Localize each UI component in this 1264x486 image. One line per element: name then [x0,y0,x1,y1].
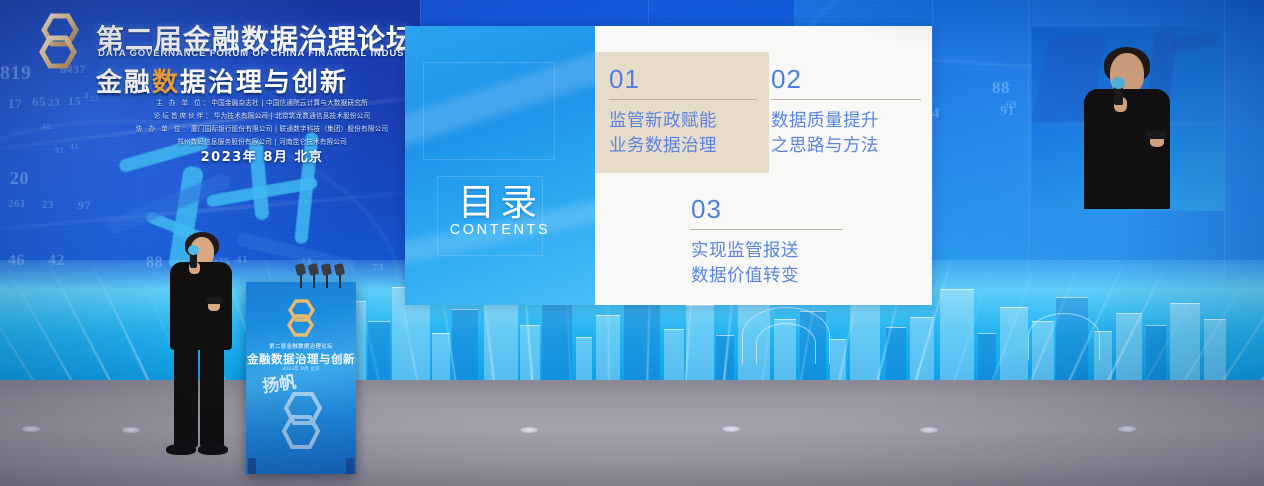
toc-label-01-line2: 业务数据治理 [609,134,757,159]
event-podium: 第二届金融数据治理论坛 金融数据治理与创新 2023年 8月 北京 扬帆 [246,282,356,474]
slide-title-panel: 目录 CONTENTS [405,26,595,305]
podium-leg [248,458,256,474]
floor-inset-light [1118,426,1136,432]
floor-inset-light [520,427,538,433]
toc-item-03[interactable]: 03 实现监管报送 数据价值转变 [679,182,853,303]
toc-number-01: 01 [609,66,757,92]
toc-item-02[interactable]: 02 数据质量提升 之思路与方法 [759,52,931,173]
skyline-building [1116,313,1142,380]
live-camera-feed [1032,27,1224,211]
podium-watermark-logo [270,390,334,452]
presenter-shoe-left [166,444,196,455]
skyline-building [664,329,684,380]
theme-highlight-char: 数 [152,68,180,98]
forum-hexagon-logo [28,12,90,70]
podium-title-big: 金融数据治理与创新 [246,351,356,367]
podium-title-small: 第二届金融数据治理论坛 [246,342,356,350]
podium-hexagon-logo [280,298,322,338]
conference-stage-photo: 8196437176523154234697412026123974642935… [0,0,1264,486]
background-number: 97 [78,198,91,213]
toc-label-02-line1: 数据质量提升 [771,109,921,134]
presenter-leg-left [174,344,198,448]
slide-contents-title-cn: 目录 [405,172,595,226]
toc-rule [609,99,757,100]
banner-organizer-line: 协 办 单 位：厦门国际银行股份有限公司 | 联通数字科技（集团）股份有限公司 [112,123,412,136]
presenter-clicker [206,297,222,304]
toc-rule [691,229,843,230]
skyline-building [452,309,478,380]
toc-label-01-line1: 监管新政赋能 [609,109,757,134]
arch-line [1028,313,1100,360]
presenter-shoe-right [198,444,228,455]
event-banner: 第二届金融数据治理论坛 DATA GOVERNANCE FORUM OF CHI… [14,4,414,174]
toc-label-03-line1: 实现监管报送 [691,239,843,264]
floor-inset-light [122,427,140,433]
slide-contents-title-en: CONTENTS [405,222,595,238]
banner-theme: 金融数据治理与创新 [96,62,348,99]
floor-inset-light [22,426,40,432]
toc-item-01[interactable]: 01 监管新政赋能 业务数据治理 [595,52,769,173]
presenter-leg-right [200,344,224,448]
floor-inset-light [920,427,938,433]
feed-clicker [1146,131,1166,139]
floor-inset-light [722,426,740,432]
feed-microphone-head [1112,77,1125,89]
toc-number-02: 02 [771,66,921,92]
skyline-building [1170,303,1200,380]
banner-organizer-lines: 主 办 单 位：中国金融杂志社 | 中国信通院云计算与大数据研究所论坛首席伙伴：… [112,97,412,148]
banner-organizer-line: 主 办 单 位：中国金融杂志社 | 中国信通院云计算与大数据研究所 [112,97,412,110]
banner-organizer-line: 论坛首席伙伴：华为技术有限公司 | 北京筑龙数通信息技术股份公司 [112,110,412,123]
slide-toc-panel: 01 监管新政赋能 业务数据治理 02 数据质量提升 之思路与方法 03 实现监… [595,26,932,305]
background-number: 88 [992,78,1010,98]
banner-subtitle-en: DATA GOVERNANCE FORUM OF CHINA FINANCIAL… [98,48,426,59]
toc-number-03: 03 [691,196,843,222]
podium-leg [346,458,354,474]
skyline-building [576,337,592,380]
background-number: 4 [932,106,940,123]
background-number: 261 [8,198,26,210]
theme-part-1: 金融 [96,68,152,98]
toc-rule [771,99,921,100]
background-number: 69 [1006,100,1017,111]
banner-date-location: 2023年 8月 北京 [112,146,412,165]
feed-calligraphy [1171,30,1219,53]
toc-label-03-line2: 数据价值转变 [691,264,843,289]
slide-grid-deco [423,62,555,160]
presentation-slide: 目录 CONTENTS 01 监管新政赋能 业务数据治理 02 数据质量提升 之… [405,26,932,305]
theme-part-2: 据治理与创新 [180,68,348,98]
stage-microphone-head [188,245,199,255]
toc-label-02-line2: 之思路与方法 [771,134,921,159]
arch-line [756,323,816,364]
background-number: 23 [42,199,54,211]
